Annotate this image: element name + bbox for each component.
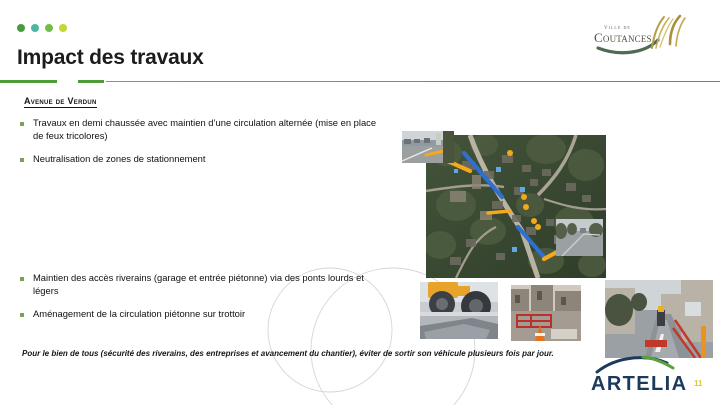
city-logo-name: Coutances <box>594 30 652 46</box>
bullet-square-icon <box>20 158 24 162</box>
list-item: Aménagement de la circulation piétonne s… <box>20 308 380 321</box>
artelia-wordmark: ARTELIA <box>591 373 687 396</box>
list-item-label: Maintien des accès riverains (garage et … <box>33 272 380 297</box>
section-subtitle: Avenue de Verdun <box>24 96 97 108</box>
bullet-list-bottom: Maintien des accès riverains (garage et … <box>20 272 380 332</box>
bullet-square-icon <box>20 277 24 281</box>
accent-dot-3 <box>45 24 53 32</box>
slide-canvas: Impact des travaux Ville de Coutances Av… <box>0 0 720 405</box>
divider-line-thin <box>106 81 720 82</box>
list-item-label: Aménagement de la circulation piétonne s… <box>33 308 245 321</box>
divider-segment-thick <box>0 80 57 83</box>
accent-dot-2 <box>31 24 39 32</box>
photo-scaffolding-with-cone <box>511 285 581 341</box>
divider-segment-dash <box>78 80 104 83</box>
list-item: Maintien des accès riverains (garage et … <box>20 272 380 297</box>
footer-note: Pour le bien de tous (sécurité des river… <box>22 348 578 359</box>
page-title: Impact des travaux <box>17 46 204 70</box>
list-item-label: Neutralisation de zones de stationnement <box>33 153 206 166</box>
bullet-square-icon <box>20 313 24 317</box>
accent-dots <box>17 24 67 32</box>
list-item: Travaux en demi chaussée avec maintien d… <box>20 117 380 142</box>
logo-coutances: Ville de Coutances <box>592 14 692 62</box>
logo-artelia: ARTELIA <box>591 355 695 395</box>
inset-photo-bottom <box>556 219 603 256</box>
accent-dot-1 <box>17 24 25 32</box>
inset-photo-top <box>402 131 454 163</box>
photo-street-with-barriers <box>605 280 713 358</box>
accent-dot-4 <box>59 24 67 32</box>
list-item-label: Travaux en demi chaussée avec maintien d… <box>33 117 380 142</box>
page-number: 11 <box>694 379 702 388</box>
bullet-list-top: Travaux en demi chaussée avec maintien d… <box>20 117 380 177</box>
bullet-square-icon <box>20 122 24 126</box>
photo-loader-on-bridge-plates <box>420 282 498 339</box>
artelia-arc-icon <box>591 355 695 375</box>
list-item: Neutralisation de zones de stationnement <box>20 153 380 166</box>
